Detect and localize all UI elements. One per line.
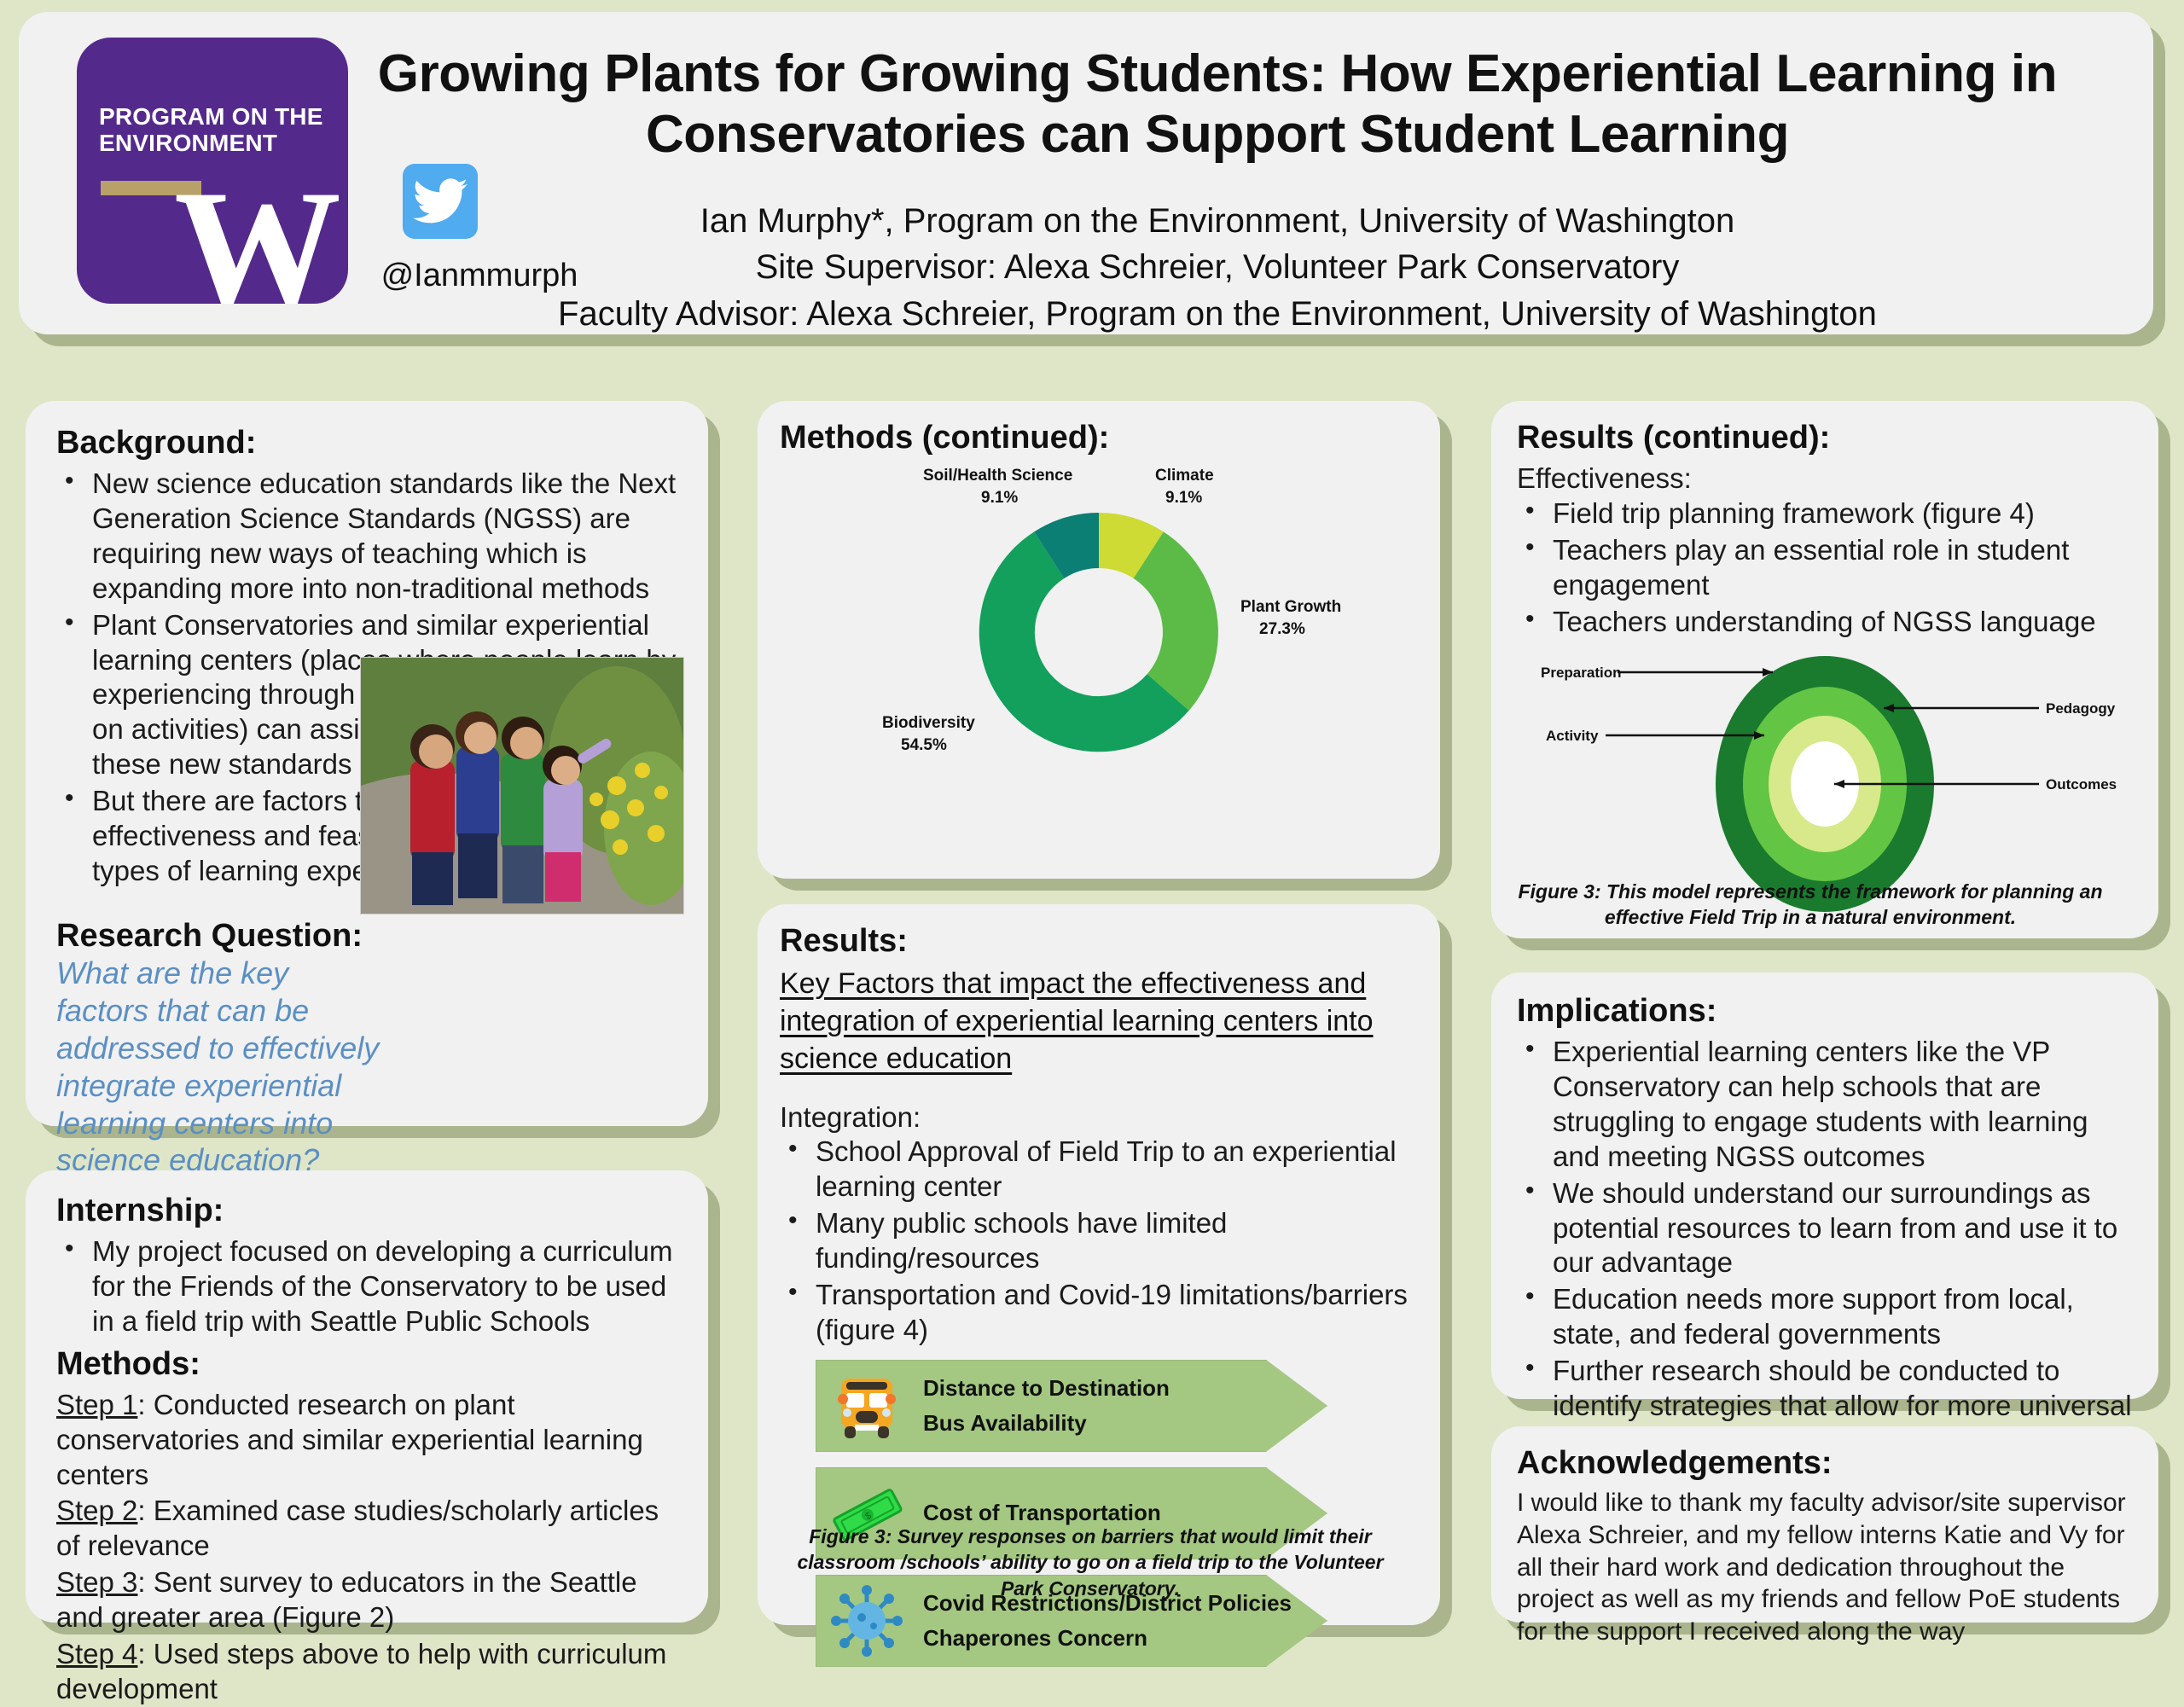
list-item: Teachers understanding of NGSS language (1553, 605, 2133, 640)
list-item: School Approval of Field Trip to an expe… (816, 1135, 1421, 1205)
method-step: Step 4: Used steps above to help with cu… (56, 1637, 688, 1707)
list-item: Many public schools have limited funding… (816, 1206, 1421, 1276)
internship-card: Internship: My project focused on develo… (26, 1170, 708, 1623)
background-heading: Background: (56, 425, 688, 462)
logo-line-2: ENVIRONMENT (99, 130, 277, 156)
results-card: Results: Key Factors that impact the eff… (758, 904, 1440, 1625)
svg-text:Plant Growth: Plant Growth (1240, 598, 1341, 616)
results-continued-card: Results (continued): Effectiveness: Fiel… (1491, 401, 2158, 938)
list-item: New science education standards like the… (92, 467, 688, 607)
barrier-line: Bus Availability (923, 1410, 1170, 1437)
list-item: Education needs more support from local,… (1553, 1282, 2133, 1352)
internship-bullet-list: My project focused on developing a curri… (56, 1234, 688, 1339)
svg-text:Soil/Health Science: Soil/Health Science (923, 467, 1072, 485)
school-bus-icon (829, 1368, 904, 1443)
method-step-label: Step 2 (56, 1495, 137, 1526)
poster-header: PROGRAM ON THE ENVIRONMENT W @Ianmmurph … (19, 12, 2153, 334)
results-continued-heading: Results (continued): (1517, 420, 2133, 456)
list-item: Field trip planning framework (figure 4) (1553, 496, 2133, 531)
method-step: Step 1: Conducted research on plant cons… (56, 1388, 688, 1493)
figure-1-photo (360, 657, 684, 914)
research-question-text: What are the key factors that can be add… (56, 955, 380, 1179)
method-step-text: : Sent survey to educators in the Seattl… (56, 1566, 637, 1633)
results-continued-bullet-list: Field trip planning framework (figure 4)… (1517, 496, 2133, 640)
method-step-label: Step 4 (56, 1638, 137, 1669)
barriers-chevron-group: Distance to Destination Bus Availability (816, 1360, 1421, 1667)
svg-text:Preparation: Preparation (1541, 665, 1621, 681)
effectiveness-label: Effectiveness: (1517, 462, 2133, 496)
methods-continued-card: Methods (continued): Plant Growth (758, 401, 1440, 879)
author-line-2: Site Supervisor: Alexa Schreier, Volunte… (326, 244, 2109, 290)
list-item: Experiential learning centers like the V… (1553, 1035, 2133, 1175)
research-question-heading: Research Question: (56, 918, 688, 955)
implications-bullet-list: Experiential learning centers like the V… (1517, 1035, 2133, 1494)
implications-heading: Implications: (1517, 993, 2133, 1030)
logo-text-block: PROGRAM ON THE ENVIRONMENT (99, 104, 329, 157)
barrier-line: Cost of Transportation (923, 1500, 1161, 1526)
results-heading: Results: (780, 923, 1421, 960)
method-step: Step 3: Sent survey to educators in the … (56, 1565, 688, 1635)
svg-text:Pedagogy: Pedagogy (2046, 700, 2116, 717)
results-subheading: Key Factors that impact the effectivenes… (780, 965, 1421, 1078)
list-item: Transportation and Covid-19 limitations/… (816, 1278, 1421, 1348)
figure-3-model-caption: Figure 3: This model represents the fram… (1512, 879, 2109, 931)
acknowledgements-text: I would like to thank my faculty advisor… (1517, 1487, 2136, 1648)
poster-canvas: PROGRAM ON THE ENVIRONMENT W @Ianmmurph … (0, 0, 2184, 1638)
logo-line-1: PROGRAM ON THE (99, 103, 323, 130)
method-step-text: : Conducted research on plant conservato… (56, 1389, 643, 1490)
methods-heading: Methods: (56, 1346, 688, 1383)
svg-text:Biodiversity: Biodiversity (882, 714, 975, 732)
barrier-label-group: Distance to Destination Bus Availability (923, 1360, 1170, 1452)
author-line-3: Faculty Advisor: Alexa Schreier, Program… (326, 291, 2109, 337)
methods-continued-heading: Methods (continued): (780, 420, 1418, 456)
svg-text:54.5%: 54.5% (901, 736, 947, 754)
svg-text:Climate: Climate (1155, 467, 1214, 485)
list-item: My project focused on developing a curri… (92, 1234, 688, 1339)
author-block: Ian Murphy*, Program on the Environment,… (326, 198, 2109, 337)
author-line-1: Ian Murphy*, Program on the Environment,… (326, 198, 2109, 244)
figure-3-barriers-caption: Figure 3: Survey responses on barriers t… (775, 1524, 1406, 1601)
figure-2-donut-chart: Plant Growth 27.3% Biodiversity 54.5% So… (780, 462, 1418, 786)
uw-w-wordmark: W (174, 165, 341, 304)
list-item: We should understand our surroundings as… (1553, 1176, 2133, 1281)
method-step-text: : Examined case studies/scholarly articl… (56, 1495, 659, 1561)
svg-text:9.1%: 9.1% (1165, 489, 1202, 507)
background-card: Background: New science education standa… (26, 401, 708, 1126)
implications-card: Implications: Experiential learning cent… (1491, 973, 2158, 1399)
barrier-line: Distance to Destination (923, 1375, 1170, 1402)
list-item: Teachers play an essential role in stude… (1553, 533, 2133, 603)
svg-text:9.1%: 9.1% (981, 489, 1018, 507)
barrier-line: Chaperones Concern (923, 1625, 1292, 1652)
acknowledgements-card: Acknowledgements: I would like to thank … (1491, 1426, 2158, 1623)
method-step-text: : Used steps above to help with curricul… (56, 1638, 666, 1704)
method-step: Step 2: Examined case studies/scholarly … (56, 1494, 688, 1564)
page-title: Growing Plants for Growing Students: How… (300, 44, 2135, 165)
method-step-label: Step 1 (56, 1389, 137, 1420)
method-step-label: Step 3 (56, 1566, 137, 1598)
internship-heading: Internship: (56, 1193, 688, 1229)
acknowledgements-heading: Acknowledgements: (1517, 1445, 2136, 1482)
integration-label: Integration: (780, 1100, 1421, 1135)
svg-text:27.3%: 27.3% (1259, 620, 1305, 638)
svg-text:Outcomes: Outcomes (2046, 776, 2117, 793)
results-bullet-list: School Approval of Field Trip to an expe… (780, 1135, 1421, 1347)
svg-text:Activity: Activity (1546, 728, 1599, 744)
barrier-chevron-transport: Distance to Destination Bus Availability (816, 1360, 1327, 1452)
